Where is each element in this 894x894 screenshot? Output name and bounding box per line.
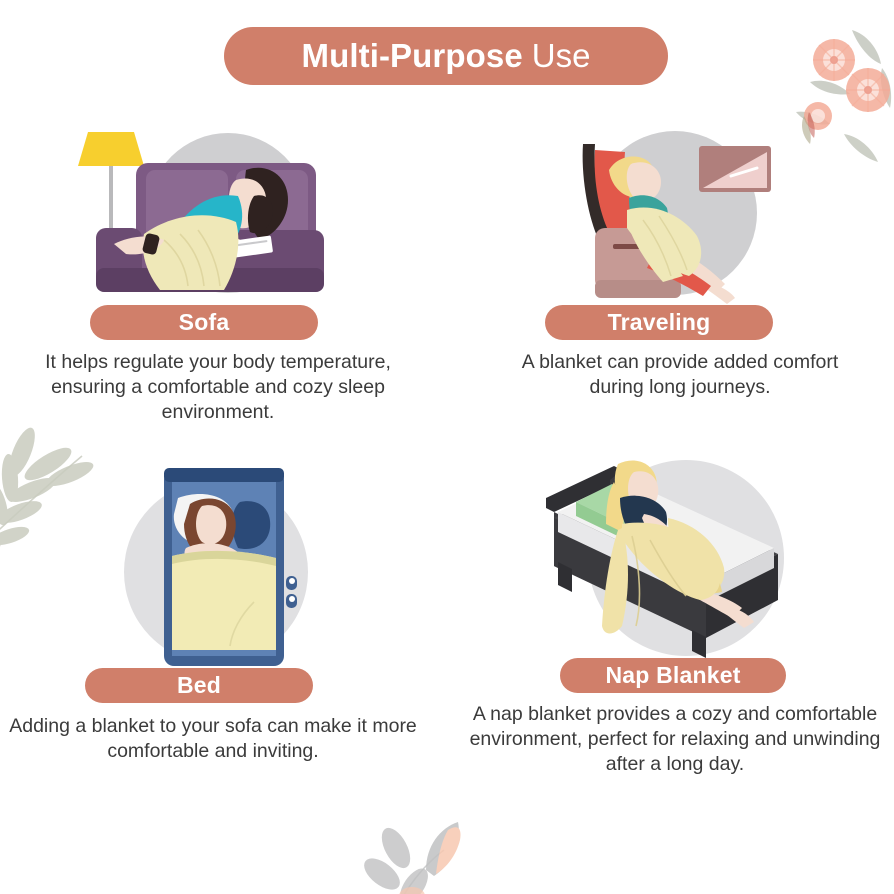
infographic-canvas: Multi-Purpose Use: [0, 0, 894, 894]
card-description-sofa: It helps regulate your body temperature,…: [8, 350, 428, 425]
card-bed: Bed Adding a blanket to your sofa can ma…: [8, 452, 418, 682]
card-description-traveling: A blanket can provide added comfort duri…: [498, 350, 862, 400]
sofa-illustration: [68, 118, 368, 318]
card-description-nap-blanket: A nap blanket provides a cozy and comfor…: [460, 702, 890, 777]
card-sofa: Sofa It helps regulate your body tempera…: [8, 118, 428, 318]
card-traveling: Traveling A blanket can provide added co…: [470, 118, 890, 318]
card-label-traveling: Traveling: [545, 305, 773, 340]
card-label-bed: Bed: [85, 668, 313, 703]
nap-blanket-illustration: [510, 440, 840, 665]
page-title-strong: Multi-Purpose: [302, 37, 523, 75]
card-label-sofa: Sofa: [90, 305, 318, 340]
page-title: Multi-Purpose Use: [224, 27, 668, 85]
card-nap-blanket: Nap Blanket A nap blanket provides a coz…: [460, 440, 890, 665]
card-label-nap-blanket: Nap Blanket: [560, 658, 786, 693]
bed-illustration: [68, 452, 358, 682]
leaf-sprig-bottom-icon: [340, 806, 536, 894]
traveling-illustration: [535, 118, 825, 318]
card-description-bed: Adding a blanket to your sofa can make i…: [8, 714, 418, 764]
page-title-rest: Use: [532, 37, 591, 75]
